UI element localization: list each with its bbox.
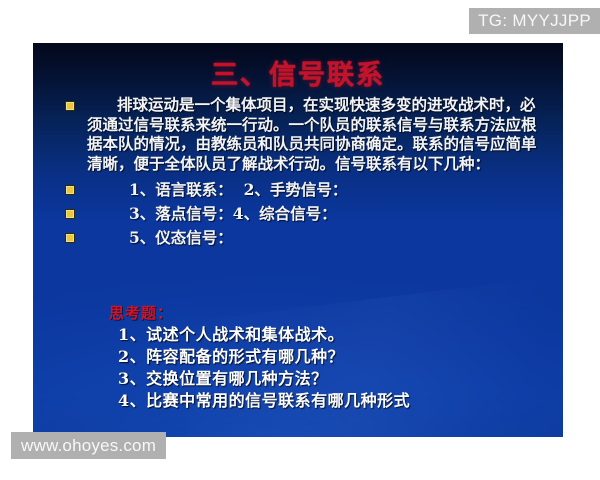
think-questions-heading: 思考题： [109, 302, 173, 323]
signal-line-3: 5、仪态信号： [73, 227, 547, 249]
question-item: 4、比赛中常用的信号联系有哪几种形式 [118, 390, 410, 412]
slide-title: 三、信号联系 [33, 53, 563, 92]
slide-body: 排球运动是一个集体项目，在实现快速多变的进攻战术时，必须通过信号联系来统一行动。… [33, 95, 563, 249]
bullet-item-signal-3: 5、仪态信号： [33, 227, 563, 249]
question-item: 2、阵容配备的形式有哪几种？ [118, 346, 410, 368]
question-item: 1、试述个人战术和集体战术。 [118, 324, 410, 346]
square-bullet-icon [66, 234, 74, 242]
question-list: 1、试述个人战术和集体战术。 2、阵容配备的形式有哪几种？ 3、交换位置有哪几种… [118, 324, 410, 412]
bullet-item-paragraph: 排球运动是一个集体项目，在实现快速多变的进攻战术时，必须通过信号联系来统一行动。… [33, 95, 563, 173]
watermark-website: www.ohoyes.com [11, 432, 166, 459]
square-bullet-icon [66, 102, 74, 110]
square-bullet-icon [66, 186, 74, 194]
watermark-telegram: TG: MYYJJPP [469, 8, 600, 34]
bullet-item-signal-1: 1、语言联系： 2、手势信号： [33, 179, 563, 201]
presentation-slide: 三、信号联系 排球运动是一个集体项目，在实现快速多变的进攻战术时，必须通过信号联… [33, 43, 563, 437]
paragraph-text: 排球运动是一个集体项目，在实现快速多变的进攻战术时，必须通过信号联系来统一行动。… [73, 95, 547, 173]
signal-line-2: 3、落点信号：4、综合信号： [73, 203, 547, 225]
bullet-item-signal-2: 3、落点信号：4、综合信号： [33, 203, 563, 225]
square-bullet-icon [66, 210, 74, 218]
question-item: 3、交换位置有哪几种方法？ [118, 368, 410, 390]
signal-line-1: 1、语言联系： 2、手势信号： [73, 179, 547, 201]
